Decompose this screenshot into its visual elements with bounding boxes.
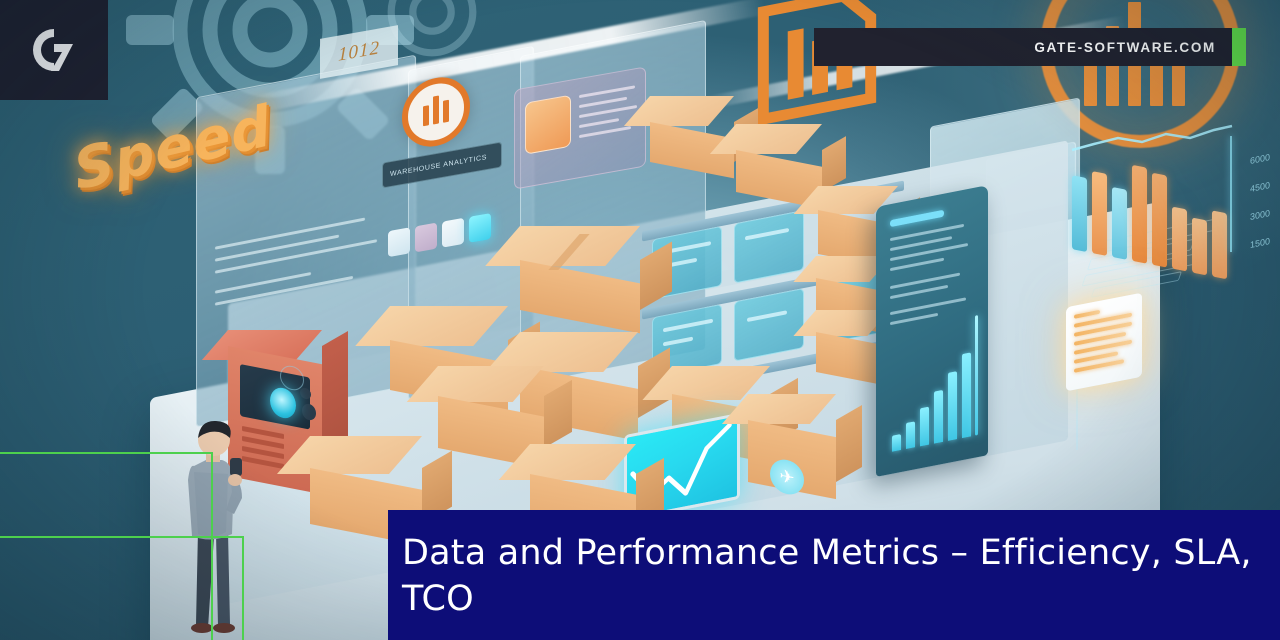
watermark-accent-bar [1232,28,1246,66]
info-panel-bar [934,390,943,444]
app-icon-2[interactable] [415,223,437,253]
info-panel-spark-line [975,315,978,436]
info-panel-bar [906,421,915,449]
shelf-bin [734,210,804,284]
overlay-line-horizontal [0,452,213,454]
page-title: Data and Performance Metrics – Efficienc… [402,530,1256,622]
watermark-label: GATE-SOFTWARE.COM [1034,40,1216,55]
overlay-line-vertical [242,536,244,640]
doc-card-stem [1076,384,1078,450]
info-panel-bar [920,407,929,447]
info-panel-header [890,210,944,227]
site-watermark: GATE-SOFTWARE.COM [814,28,1232,66]
shelf-bin [734,288,804,362]
brand-logo-tile[interactable] [0,0,108,100]
holographic-bar-chart: 6000 4500 3000 1500 [1066,108,1276,288]
info-panel-bar [948,371,957,441]
chart-trend-line [1066,108,1276,288]
overlay-line-vertical [211,452,213,640]
gate-g-logo-icon [29,25,79,75]
report-doc-card [1066,293,1142,392]
card-thumbnail [525,95,571,155]
metrics-info-panel [876,185,988,477]
app-icon-3[interactable] [442,218,464,248]
app-icon-1[interactable] [388,227,410,257]
slide-canvas: WAREHOUSE ANALYTICS 1012 Speed [0,0,1280,640]
app-icon-4[interactable] [469,213,491,243]
slide-title-banner: Data and Performance Metrics – Efficienc… [388,510,1280,640]
info-panel-bar [892,434,901,452]
info-panel-bar [962,352,971,438]
overlay-line-horizontal [0,536,244,538]
